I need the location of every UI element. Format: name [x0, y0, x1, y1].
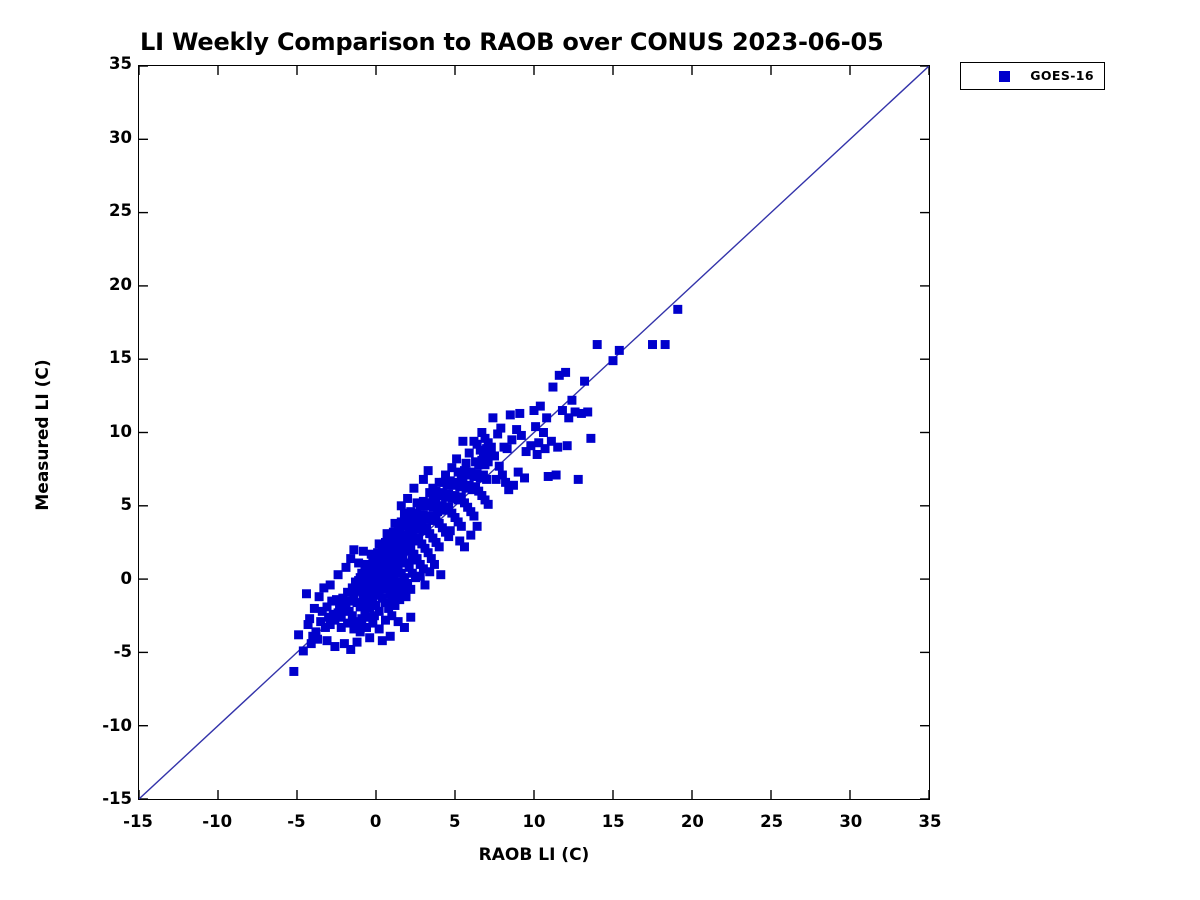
scatter-point	[493, 429, 502, 438]
scatter-point	[375, 624, 384, 633]
scatter-point	[323, 636, 332, 645]
scatter-point	[531, 422, 540, 431]
scatter-point	[356, 573, 365, 582]
scatter-point	[561, 368, 570, 377]
scatter-point	[488, 413, 497, 422]
scatter-point	[509, 481, 518, 490]
x-tick-label: 25	[737, 812, 807, 831]
scatter-point	[583, 407, 592, 416]
y-tick-label: 25	[72, 201, 132, 220]
legend-label-goes16: GOES-16	[1030, 68, 1094, 83]
scatter-point	[349, 545, 358, 554]
scatter-point	[533, 450, 542, 459]
x-tick-label: 15	[578, 812, 648, 831]
scatter-point	[673, 305, 682, 314]
y-tick-label: 0	[72, 569, 132, 588]
scatter-point	[544, 472, 553, 481]
scatter-point	[346, 645, 355, 654]
scatter-point	[457, 522, 466, 531]
scatter-point	[661, 340, 670, 349]
x-axis-tick-labels: -15-10-505101520253035	[0, 812, 1200, 842]
scatter-point	[406, 613, 415, 622]
scatter-point	[473, 522, 482, 531]
scatter-point	[378, 636, 387, 645]
y-tick-label: 5	[72, 495, 132, 514]
x-tick-label: -5	[261, 812, 331, 831]
scatter-point	[520, 473, 529, 482]
scatter-point	[341, 563, 350, 572]
scatter-point	[506, 410, 515, 419]
x-tick-label: 10	[499, 812, 569, 831]
scatter-point	[465, 449, 474, 458]
scatter-point	[313, 635, 322, 644]
x-tick-label: 30	[816, 812, 886, 831]
scatter-point	[416, 572, 425, 581]
x-tick-label: -15	[103, 812, 173, 831]
y-tick-label: -5	[72, 642, 132, 661]
one-to-one-reference-line	[139, 66, 929, 799]
scatter-point	[346, 554, 355, 563]
scatter-point	[359, 547, 368, 556]
scatter-point	[397, 501, 406, 510]
scatter-point	[334, 570, 343, 579]
scatter-point	[469, 437, 478, 446]
scatter-point	[487, 443, 496, 452]
scatter-point	[609, 356, 618, 365]
y-tick-label: 10	[72, 422, 132, 441]
x-axis-title: RAOB LI (C)	[138, 845, 930, 865]
legend: GOES-16	[960, 62, 1105, 90]
scatter-point	[420, 580, 429, 589]
scatter-point	[458, 437, 467, 446]
scatter-point	[430, 560, 439, 569]
scatter-point	[330, 642, 339, 651]
scatter-point	[460, 542, 469, 551]
scatter-point	[469, 512, 478, 521]
scatter-point	[648, 340, 657, 349]
scatter-point	[477, 428, 486, 437]
x-tick-label: 0	[341, 812, 411, 831]
scatter-point	[406, 585, 415, 594]
y-tick-label: 15	[72, 348, 132, 367]
scatter-point	[586, 434, 595, 443]
scatter-point	[405, 526, 414, 535]
scatter-point	[289, 667, 298, 676]
scatter-point	[593, 340, 602, 349]
scatter-point	[428, 484, 437, 493]
scatter-point	[365, 633, 374, 642]
plot-canvas	[139, 66, 929, 799]
scatter-point	[517, 431, 526, 440]
scatter-point	[542, 413, 551, 422]
scatter-point	[335, 604, 344, 613]
scatter-points	[289, 305, 682, 676]
scatter-point	[384, 569, 393, 578]
scatter-point	[386, 632, 395, 641]
scatter-point	[499, 443, 508, 452]
y-axis-title: Measured LI (C)	[33, 355, 53, 515]
scatter-point	[424, 466, 433, 475]
scatter-point	[390, 560, 399, 569]
y-tick-label: -15	[72, 789, 132, 808]
y-tick-label: 30	[72, 128, 132, 147]
scatter-point	[408, 556, 417, 565]
y-tick-label: -10	[72, 716, 132, 735]
scatter-point	[397, 580, 406, 589]
scatter-point	[536, 402, 545, 411]
scatter-point	[574, 475, 583, 484]
scatter-point	[419, 475, 428, 484]
scatter-point	[436, 570, 445, 579]
scatter-point	[409, 484, 418, 493]
scatter-point	[417, 517, 426, 526]
scatter-point	[552, 471, 561, 480]
scatter-point	[305, 614, 314, 623]
x-tick-label: 5	[420, 812, 490, 831]
scatter-point	[294, 630, 303, 639]
scatter-point	[553, 443, 562, 452]
scatter-point	[484, 500, 493, 509]
page-title: LI Weekly Comparison to RAOB over CONUS …	[140, 28, 940, 56]
scatter-point	[492, 475, 501, 484]
scatter-point	[370, 611, 379, 620]
x-tick-label: -10	[182, 812, 252, 831]
scatter-point	[539, 428, 548, 437]
y-axis-tick-labels: -15-10-505101520253035	[60, 0, 132, 900]
scatter-point	[563, 441, 572, 450]
scatter-point	[299, 646, 308, 655]
scatter-point	[615, 346, 624, 355]
scatter-plot-figure: LI Weekly Comparison to RAOB over CONUS …	[0, 0, 1200, 900]
scatter-point	[452, 454, 461, 463]
scatter-point	[367, 594, 376, 603]
plot-area	[138, 65, 930, 800]
scatter-point	[315, 592, 324, 601]
y-tick-label: 20	[72, 275, 132, 294]
scatter-point	[302, 589, 311, 598]
scatter-point	[495, 462, 504, 471]
scatter-point	[466, 531, 475, 540]
x-tick-label: 35	[895, 812, 965, 831]
scatter-point	[526, 441, 535, 450]
scatter-point	[310, 604, 319, 613]
scatter-point	[400, 623, 409, 632]
x-tick-label: 20	[657, 812, 727, 831]
scatter-point	[435, 542, 444, 551]
scatter-point	[515, 409, 524, 418]
scatter-point	[490, 451, 499, 460]
scatter-point	[379, 583, 388, 592]
scatter-point	[326, 580, 335, 589]
scatter-point	[433, 507, 442, 516]
scatter-point	[580, 377, 589, 386]
scatter-point	[548, 383, 557, 392]
y-tick-label: 35	[72, 54, 132, 73]
scatter-point	[354, 558, 363, 567]
scatter-point	[462, 459, 471, 468]
legend-marker-icon	[999, 71, 1010, 82]
scatter-point	[507, 435, 516, 444]
scatter-point	[482, 475, 491, 484]
scatter-point	[446, 526, 455, 535]
scatter-point	[567, 396, 576, 405]
